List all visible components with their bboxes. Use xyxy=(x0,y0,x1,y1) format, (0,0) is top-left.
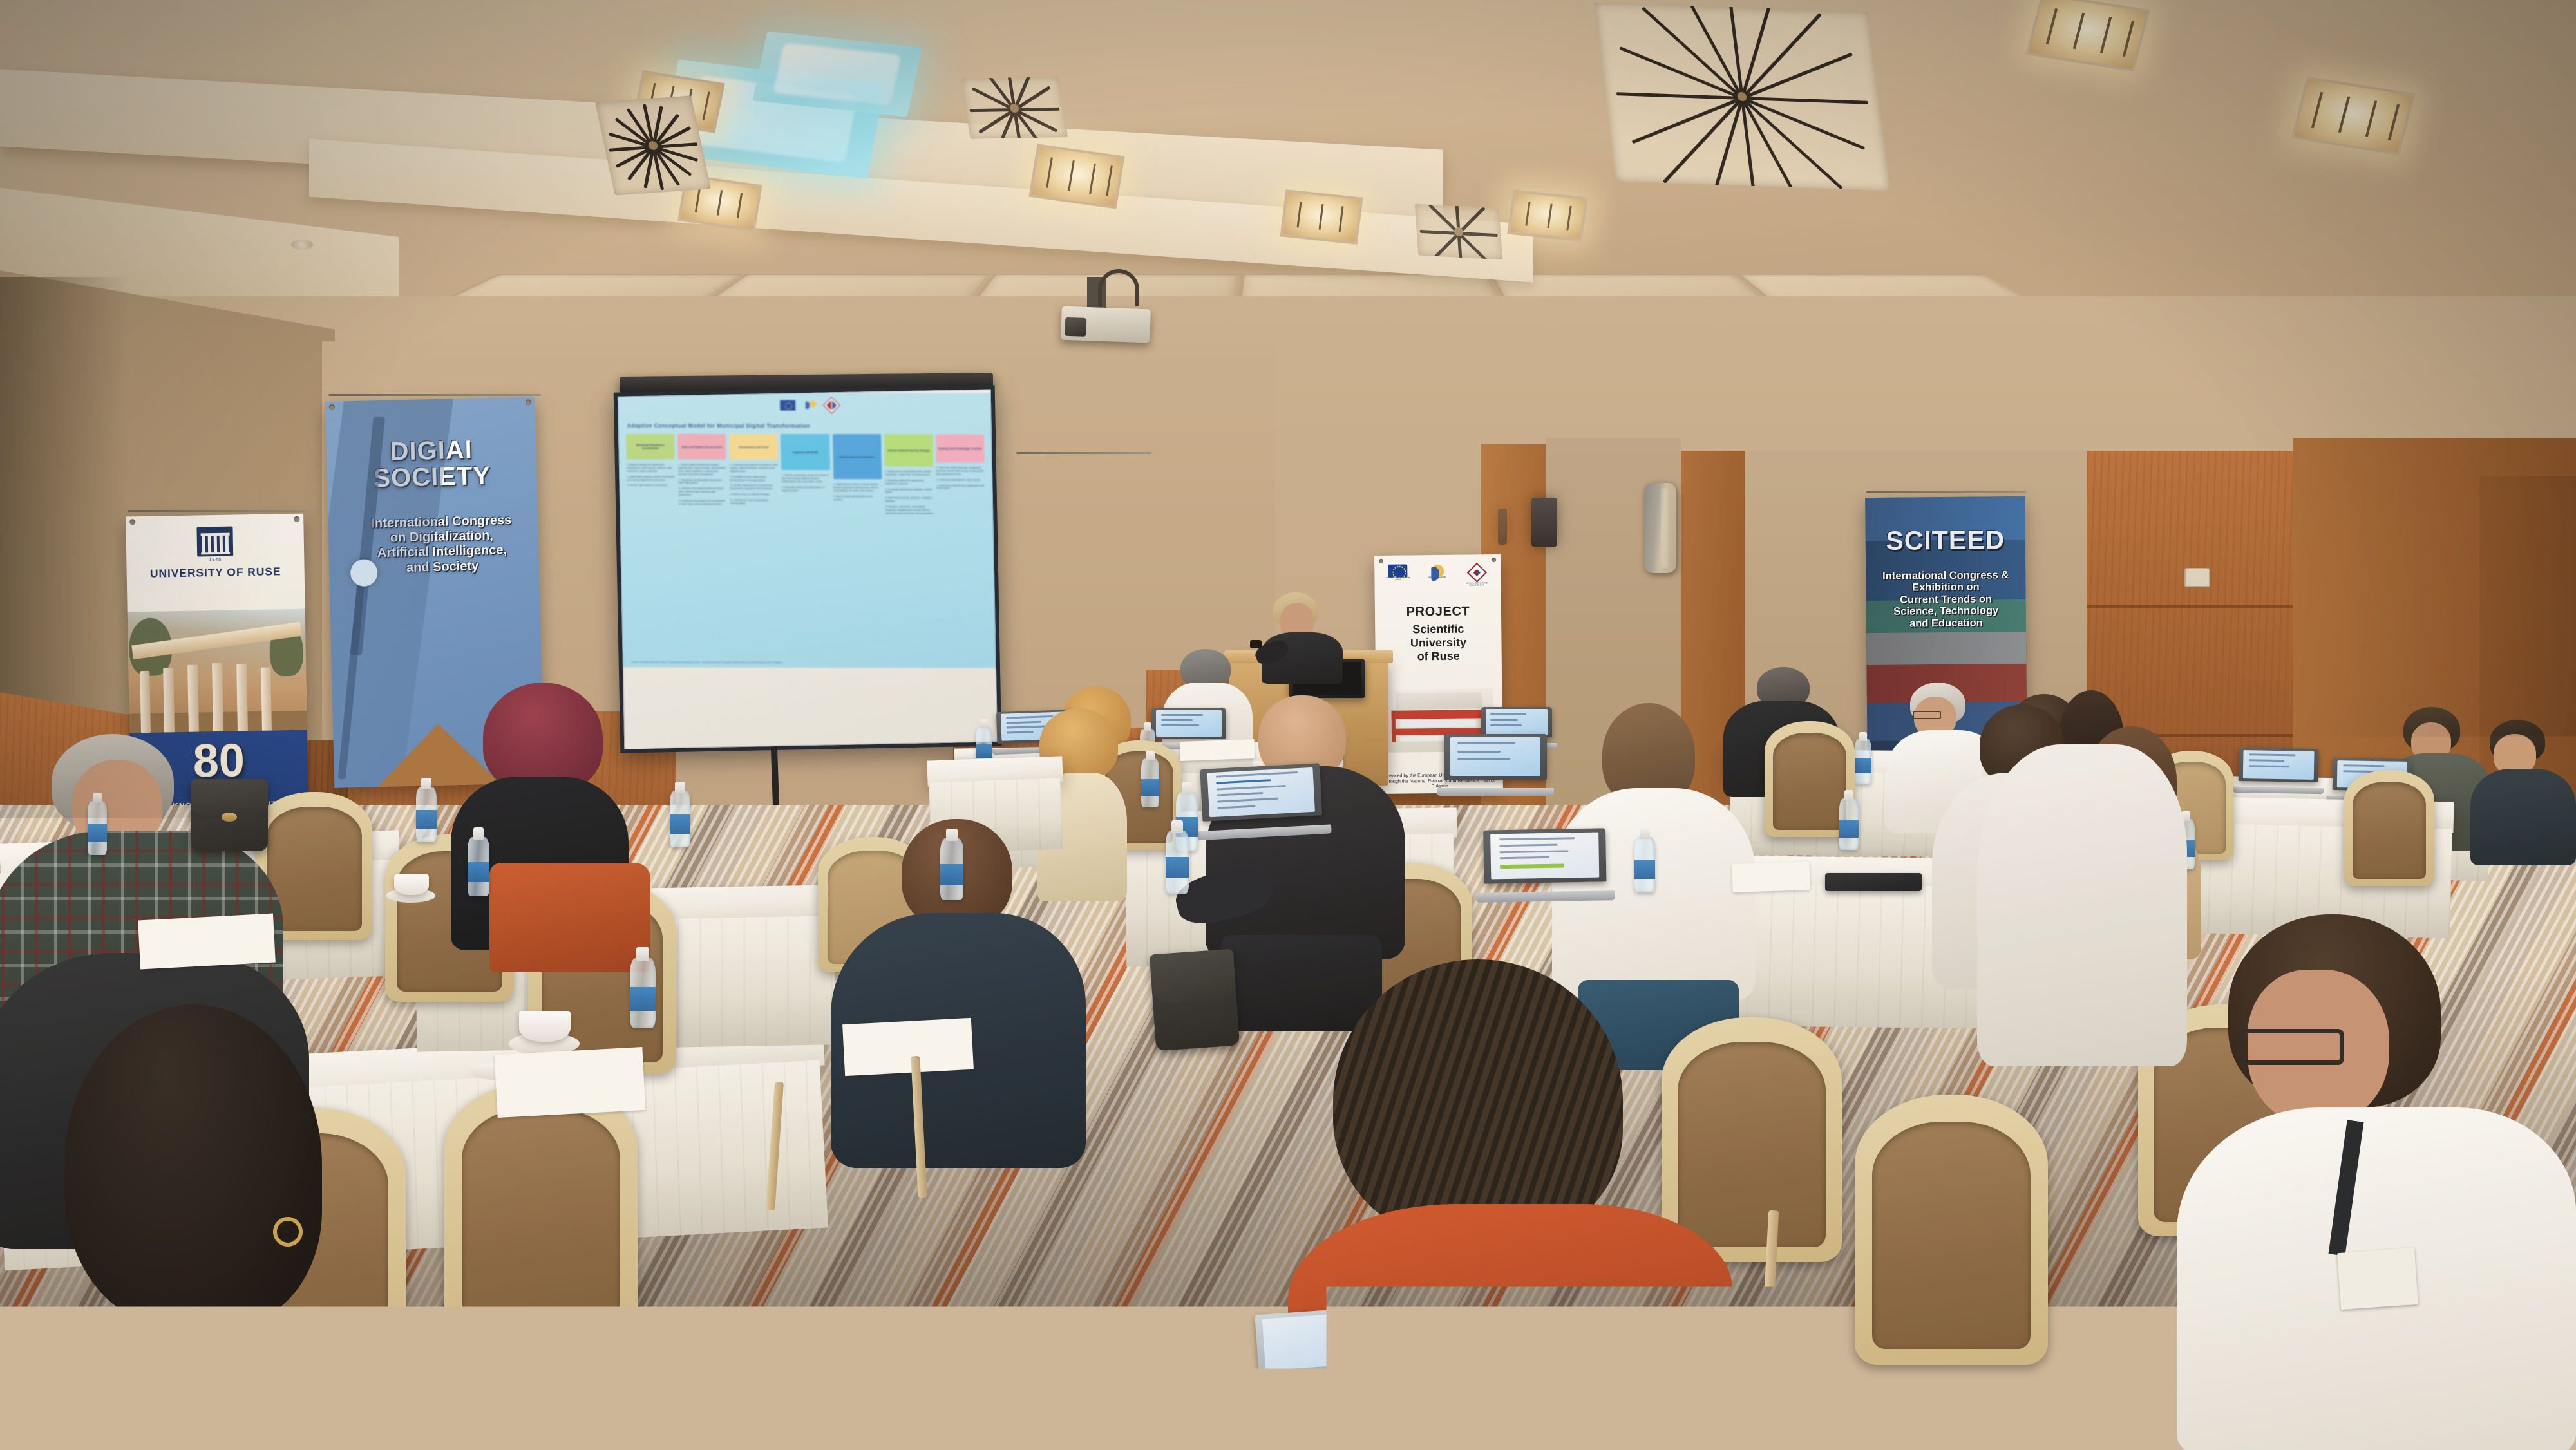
nrrp-logo: NATIONAL RECOVERY AND RESILIENCE PLAN xyxy=(1464,563,1490,587)
university-logo: UNIVERSITY OF RUSE xyxy=(1425,564,1449,579)
banquet-chair[interactable] xyxy=(444,1082,638,1339)
university-of-ruse-crest-icon xyxy=(196,527,233,557)
slide-column-body: 1. Training, onboarding, shared ICT team… xyxy=(782,474,831,493)
torso xyxy=(2470,769,2576,865)
slide-columns: Municipal Readiness Assessment 1. Baseli… xyxy=(626,434,986,518)
laptop-front-right[interactable] xyxy=(2004,1033,2231,1192)
notepad[interactable] xyxy=(495,1047,646,1118)
logo-caption: NATIONAL RECOVERY AND RESILIENCE PLAN xyxy=(1464,583,1490,587)
coffee-cup[interactable] xyxy=(519,1011,571,1042)
slide-column-header: Scaling and Knowledge Transfer xyxy=(936,434,985,462)
water-bottle[interactable] xyxy=(88,801,107,855)
eu-funding-logo: FUNDED BY THE EUROPEAN UNION xyxy=(1386,564,1410,581)
smoke-detector xyxy=(291,240,313,250)
water-bottle[interactable] xyxy=(1839,798,1859,850)
air-diffuser-vent xyxy=(961,77,1068,138)
slide-column: Capacity and Skills 1. Training, onboard… xyxy=(781,434,831,518)
banner-building-photo xyxy=(128,609,307,733)
ceiling-downlight xyxy=(1280,189,1363,245)
water-bottle[interactable] xyxy=(670,791,690,847)
slide-column-body: 1. Digital-services audit to monitor les… xyxy=(833,483,882,502)
notepad[interactable] xyxy=(1732,862,1810,892)
water-bottle[interactable] xyxy=(1141,758,1159,807)
person-far-right-beard xyxy=(2470,720,2576,862)
air-diffuser-vent xyxy=(595,95,711,195)
slide-column: Scaling and Knowledge Transfer 1. Inter-… xyxy=(936,434,986,518)
person-front-dark-ponytail xyxy=(26,1004,412,1450)
water-bottle[interactable] xyxy=(416,787,437,842)
slide-column: Monitoring and Evaluation 1. Digital-ser… xyxy=(833,434,883,518)
water-bottle[interactable] xyxy=(1634,837,1655,892)
person-front-red-hair xyxy=(451,683,631,953)
presenter-clicker xyxy=(1250,640,1262,648)
slide-column-body: 1. Shared digital infrastructure identit… xyxy=(678,464,727,506)
laptop-mid-black-shirt[interactable] xyxy=(1200,763,1323,840)
water-bottle[interactable] xyxy=(468,837,489,896)
poster-line-3: of Ruse xyxy=(1376,649,1502,664)
slide-column-body: 1. Deploy service-onboarding tracks, por… xyxy=(885,470,934,515)
slide-logo-row xyxy=(780,399,838,411)
slide-column-header: Citizen-Centred Service Design xyxy=(884,434,933,466)
air-diffuser-vent xyxy=(1594,3,1889,191)
ceiling-projector xyxy=(1061,306,1151,343)
wall-wood-seam xyxy=(2080,605,2293,608)
slide-column: Data and Digital Infrastructure 1. Share… xyxy=(677,434,728,518)
slide-column: Citizen-Centred Service Design 1. Deploy… xyxy=(884,434,934,518)
slide-title: Adaptive Conceptual Model for Municipal … xyxy=(627,422,975,429)
banner-subtitle-line3: Current Trends on xyxy=(1871,593,2020,606)
laptop-far-right-1[interactable] xyxy=(2238,748,2318,794)
slide-column-header: Monitoring and Evaluation xyxy=(833,434,882,479)
notepad[interactable] xyxy=(842,1018,974,1076)
handbag[interactable] xyxy=(191,779,268,851)
slide-column-header: Capacity and Skills xyxy=(781,434,829,470)
notepad[interactable] xyxy=(1180,739,1255,761)
banner-rope xyxy=(1866,491,2026,493)
crest-year: 1945 xyxy=(126,556,304,564)
slide-column-header: Governance and Trust xyxy=(729,434,778,460)
slide-column: Governance and Trust 1. A roadmap with p… xyxy=(729,434,779,518)
poster-line-2: University xyxy=(1375,636,1501,650)
hair-braids xyxy=(1333,959,1623,1243)
thermostat[interactable] xyxy=(2184,568,2210,587)
wall-sconce xyxy=(1531,498,1557,547)
eu-flag-icon xyxy=(780,400,795,410)
presentation-slide: Adaptive Conceptual Model for Municipal … xyxy=(618,393,996,668)
poster-logo-row: FUNDED BY THE EUROPEAN UNION UNIVERSITY … xyxy=(1374,563,1501,587)
conference-hall-photo: Adaptive Conceptual Model for Municipal … xyxy=(0,0,2576,1450)
water-bottle[interactable] xyxy=(1855,739,1871,784)
hair-ponytail xyxy=(64,1004,322,1326)
slide-column: Municipal Readiness Assessment 1. Baseli… xyxy=(626,434,676,518)
national-recovery-plan-logo-icon xyxy=(823,397,840,413)
laptop-front-tablet-left[interactable] xyxy=(1255,1307,1375,1386)
earring xyxy=(273,1217,303,1247)
banner-subtitle-line4: Science, Technology xyxy=(1871,605,2021,617)
slide-column-body: 1. Baseline assessment diagnostics: infr… xyxy=(627,464,676,487)
university-name: UNIVERSITY OF RUSE xyxy=(127,565,305,581)
name-badge xyxy=(2337,1248,2418,1310)
slide-column-header: Data and Digital Infrastructure xyxy=(677,434,726,460)
banner-subtitle-line2: Exhibition on xyxy=(1871,581,2020,594)
coffee-cup[interactable] xyxy=(394,874,429,895)
banner-subtitle-line5: and Education xyxy=(1871,617,2021,630)
banner-subtitle-line1: International Congress & xyxy=(1871,569,2020,582)
banner-rope xyxy=(328,394,541,396)
notepad[interactable] xyxy=(138,914,276,970)
poster-line-1: Scientific xyxy=(1375,622,1501,637)
tablet-device[interactable] xyxy=(1825,873,1922,891)
ceiling-downlight xyxy=(1507,189,1588,241)
slide-footer: Project "Scientific University of Ruse",… xyxy=(632,661,980,664)
water-bottle[interactable] xyxy=(1166,831,1189,894)
torso xyxy=(41,1312,402,1450)
laptop-mid-far-right[interactable] xyxy=(1444,734,1547,796)
university-of-ruse-logo-icon xyxy=(804,400,817,411)
slide-column-body: 1. A roadmap with phases of investment, … xyxy=(730,464,779,505)
slide-column-body: 1. Inter-local context learning, compara… xyxy=(936,466,985,490)
hair xyxy=(1180,649,1231,688)
projector-lens xyxy=(1065,317,1086,337)
wall-speaker xyxy=(1644,483,1676,573)
person-speaker xyxy=(1259,592,1356,683)
banner-rope xyxy=(128,510,314,512)
poster-heading: PROJECT xyxy=(1375,604,1501,620)
projection-screen: Adaptive Conceptual Model for Municipal … xyxy=(614,385,1002,753)
banner-rope xyxy=(1016,452,1151,454)
laptop-mid-woman-right[interactable] xyxy=(1483,828,1607,902)
projector-cable xyxy=(1098,269,1139,306)
banquet-chair[interactable] xyxy=(2344,770,2434,886)
water-bottle[interactable] xyxy=(940,838,963,900)
backpack[interactable] xyxy=(1150,949,1240,1051)
air-diffuser-vent xyxy=(1415,204,1502,260)
banner-title: SCITEED xyxy=(1866,525,2025,556)
water-bottle[interactable] xyxy=(630,958,656,1028)
wall-sconce xyxy=(1498,509,1507,545)
orange-jacket-on-chair xyxy=(489,863,650,972)
slide-column-header: Municipal Readiness Assessment xyxy=(626,434,675,460)
